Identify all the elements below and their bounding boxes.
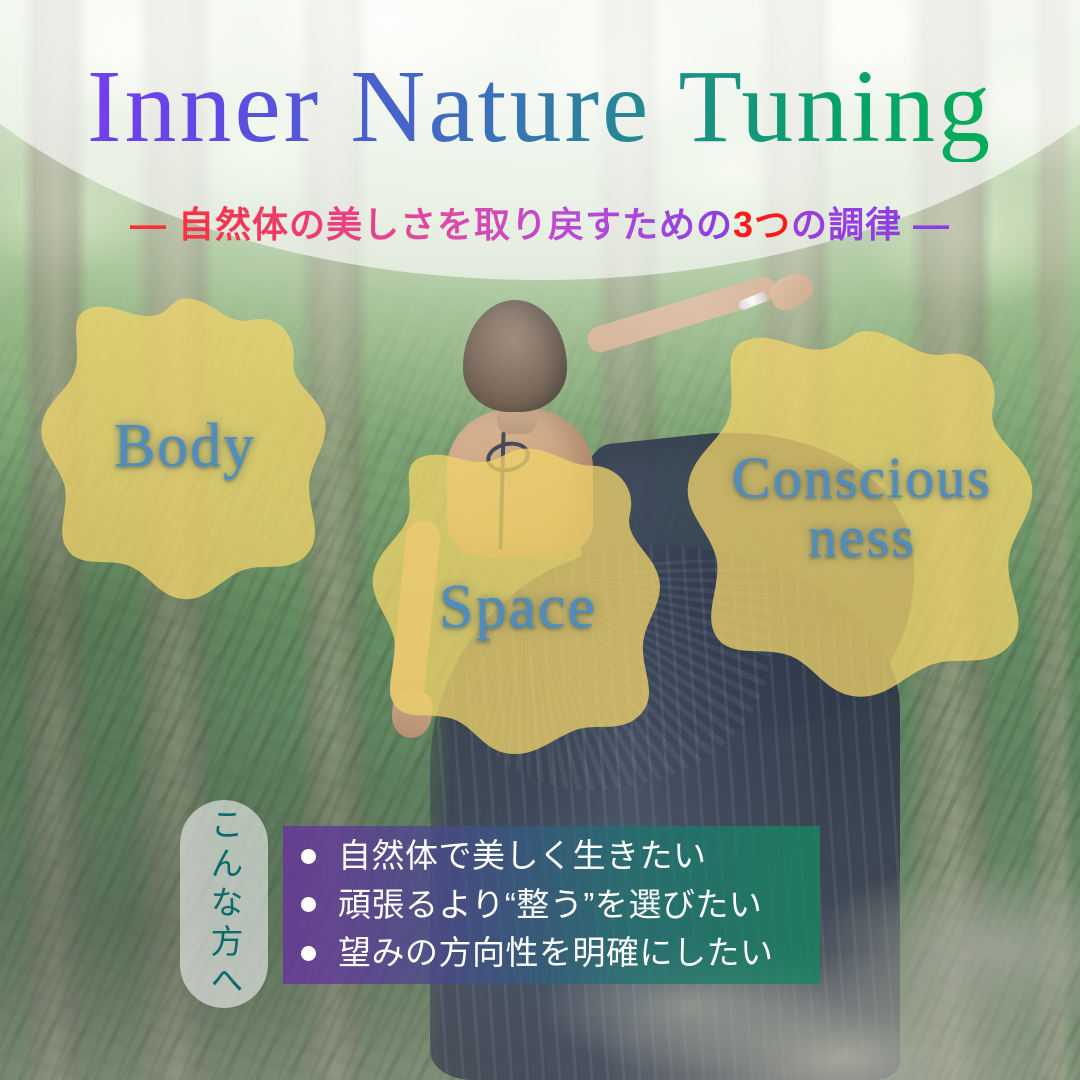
audience-pill: こんな方へ — [180, 800, 268, 1008]
list-item-label: 望みの方向性を明確にしたい — [338, 929, 774, 978]
subtitle: — 自然体の美しさを取り戻すための3つの調律 — — [0, 196, 1080, 248]
bullet-list: 自然体で美しく生きたい 頑張るより“整う”を選びたい 望みの方向性を明確にしたい — [301, 832, 820, 978]
bullet-dot-icon — [301, 946, 316, 961]
badge-space[interactable]: Space — [358, 440, 678, 775]
subtitle-trail: の調律 — — [791, 204, 950, 245]
scallop-flower-icon — [30, 292, 340, 602]
list-item: 自然体で美しく生きたい — [301, 832, 820, 881]
audience-pill-label: こんな方へ — [200, 807, 248, 1002]
list-item: 頑張るより“整う”を選びたい — [301, 881, 820, 930]
poster-canvas: Inner Nature Tuning — 自然体の美しさを取り戻すための3つの… — [0, 0, 1080, 1080]
scallop-flower-icon — [672, 322, 1052, 702]
page-title: Inner Nature Tuning — [0, 52, 1080, 162]
subtitle-highlight: 3つ — [733, 204, 791, 245]
badge-consciousness[interactable]: Conscious ness — [672, 322, 1052, 692]
list-item-label: 自然体で美しく生きたい — [338, 832, 707, 881]
list-item: 望みの方向性を明確にしたい — [301, 929, 820, 978]
badge-body[interactable]: Body — [30, 292, 340, 602]
list-item-label: 頑張るより“整う”を選びたい — [338, 881, 762, 930]
bullet-dot-icon — [301, 849, 316, 864]
bullet-box: 自然体で美しく生きたい 頑張るより“整う”を選びたい 望みの方向性を明確にしたい — [283, 826, 820, 984]
bullet-dot-icon — [301, 897, 316, 912]
subtitle-lead: — 自然体の美しさを取り戻すための — [130, 204, 733, 245]
scallop-flower-icon — [358, 440, 678, 760]
